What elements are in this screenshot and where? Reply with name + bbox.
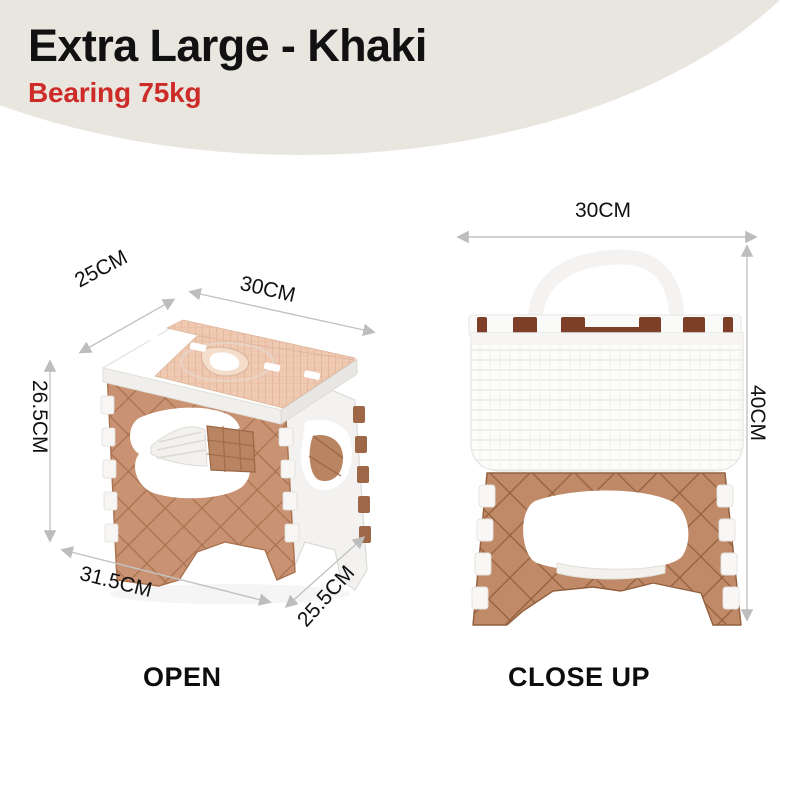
header-text-block: Extra Large - Khaki Bearing 75kg <box>28 22 427 109</box>
caption-close-up: CLOSE UP <box>508 662 650 693</box>
caption-open: OPEN <box>143 662 222 693</box>
folded-stool-dimensions <box>425 195 785 625</box>
product-infographic: Extra Large - Khaki Bearing 75kg <box>0 0 800 800</box>
bearing-capacity-label: Bearing 75kg <box>28 77 427 109</box>
dim-label-30cm-folded: 30CM <box>575 199 631 223</box>
page-title: Extra Large - Khaki <box>28 22 427 69</box>
dim-label-40cm: 40CM <box>745 385 769 441</box>
dim-label-26-5cm: 26.5CM <box>27 380 51 454</box>
figure-open-stool: 25CM 30CM 26.5CM 31.5CM 25.5CM <box>55 250 405 630</box>
dim-line-25cm <box>81 300 173 352</box>
figure-folded-stool: 30CM 40CM <box>425 195 785 625</box>
